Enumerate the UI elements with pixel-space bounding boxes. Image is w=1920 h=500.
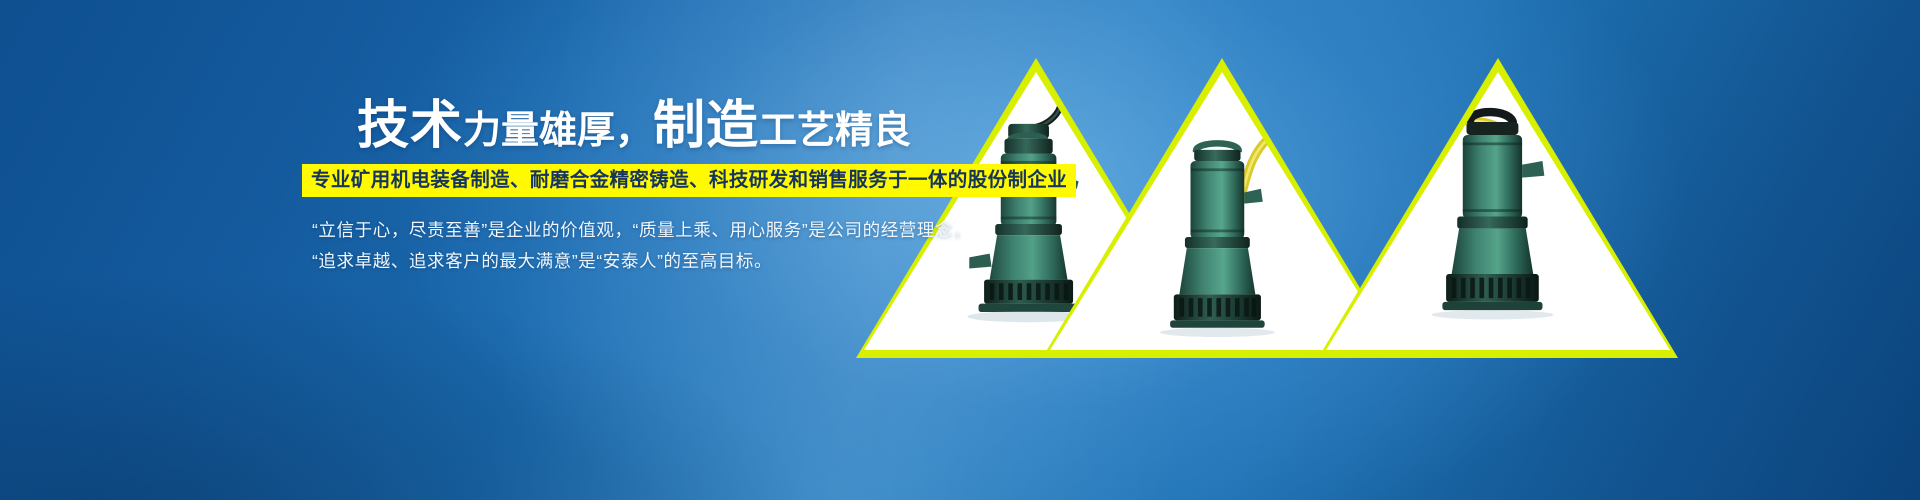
banner-body-line-1: “立信于心，尽责至善”是企业的价值观，“质量上乘、用心服务”是公司的经营理念， bbox=[312, 219, 971, 241]
headline-segment-4: 工艺精良 bbox=[759, 110, 911, 152]
headline-segment-1: 技术 bbox=[357, 97, 463, 155]
product-triangle-3 bbox=[1318, 58, 1678, 358]
promo-banner: 技术力量雄厚，制造工艺精良 专业矿用机电装备制造、耐磨合金精密铸造、科技研发和销… bbox=[0, 0, 1920, 500]
triangle-photo-frame-3 bbox=[1326, 72, 1670, 350]
mining-submersible-pump-image bbox=[1326, 72, 1670, 350]
banner-headline: 技术力量雄厚，制造工艺精良 bbox=[357, 100, 911, 157]
banner-text-block: 技术力量雄厚，制造工艺精良 专业矿用机电装备制造、耐磨合金精密铸造、科技研发和销… bbox=[0, 0, 960, 500]
headline-segment-2: 力量雄厚， bbox=[463, 110, 653, 152]
banner-body-line-2: “追求卓越、追求客户的最大满意”是“安泰人”的至高目标。 bbox=[312, 250, 772, 272]
product-triangle-group bbox=[856, 58, 1876, 360]
banner-highlight-bar: 专业矿用机电装备制造、耐磨合金精密铸造、科技研发和销售服务于一体的股份制企业 bbox=[302, 164, 1076, 197]
headline-segment-3: 制造 bbox=[653, 97, 759, 155]
